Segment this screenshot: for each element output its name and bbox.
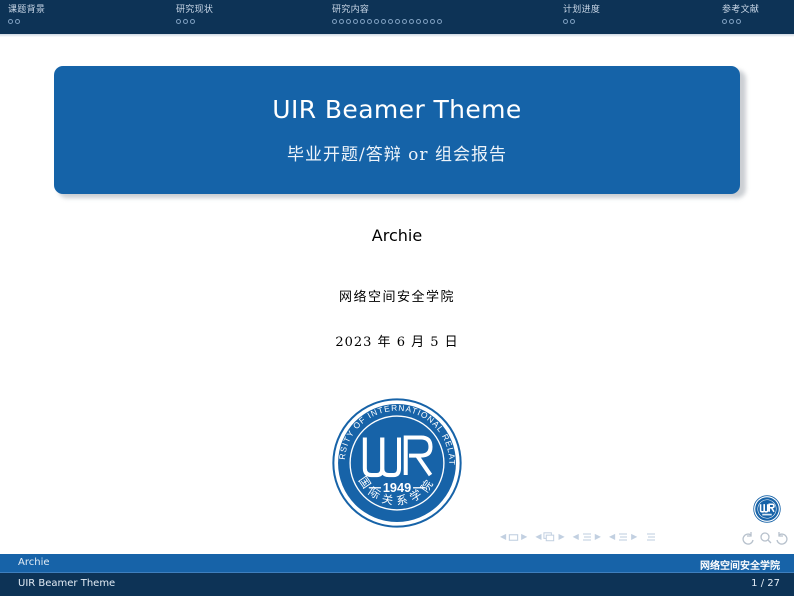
footer-lower-bar xyxy=(0,573,794,596)
slide-dot-icon[interactable] xyxy=(190,19,195,24)
prev-section-icon[interactable]: ◀ xyxy=(609,533,615,541)
frame-navigation-icon[interactable]: ◀ ▶ xyxy=(535,531,564,543)
slide-dot-icon[interactable] xyxy=(353,19,358,24)
header-section-label: 计划进度 xyxy=(563,4,600,16)
slide-dot-icon[interactable] xyxy=(736,19,741,24)
slide-dot-icon[interactable] xyxy=(423,19,428,24)
footer-author: Archie xyxy=(18,557,50,568)
slide-dot-icon[interactable] xyxy=(416,19,421,24)
slide-glyph-icon[interactable] xyxy=(508,532,519,543)
header-section-label: 研究现状 xyxy=(176,4,213,16)
search-icon xyxy=(761,533,769,541)
header-section-3[interactable]: 研究内容 xyxy=(332,4,442,24)
next-slide-icon[interactable]: ▶ xyxy=(521,533,527,541)
frame-glyph-icon[interactable] xyxy=(543,531,556,543)
slide-dot-icon[interactable] xyxy=(374,19,379,24)
slide-dot-icon[interactable] xyxy=(367,19,372,24)
presentation-title: UIR Beamer Theme xyxy=(272,95,521,124)
presentation-glyph-icon[interactable] xyxy=(645,531,657,543)
slide-dot-icon[interactable] xyxy=(15,19,20,24)
presentation-navigation-icon[interactable] xyxy=(645,531,657,543)
footer-institute: 网络空间安全学院 xyxy=(700,557,780,572)
header-section-label: 研究内容 xyxy=(332,4,442,16)
uir-seal-logo: UNIVERSITY OF INTERNATIONAL RELATIONS 国际… xyxy=(330,396,464,530)
header-section-slide-dots[interactable] xyxy=(722,19,759,24)
subsection-glyph-icon[interactable] xyxy=(581,531,593,543)
slide-dot-icon[interactable] xyxy=(570,19,575,24)
slide-dot-icon[interactable] xyxy=(332,19,337,24)
slide-dot-icon[interactable] xyxy=(729,19,734,24)
slide-dot-icon[interactable] xyxy=(8,19,13,24)
slide-dot-icon[interactable] xyxy=(176,19,181,24)
footer-upper-bar xyxy=(0,554,794,572)
header-section-slide-dots[interactable] xyxy=(563,19,600,24)
header-section-slide-dots[interactable] xyxy=(176,19,213,24)
prev-frame-icon[interactable]: ◀ xyxy=(535,533,541,541)
header-section-2[interactable]: 研究现状 xyxy=(176,4,213,24)
subsection-navigation-icon[interactable]: ◀ ▶ xyxy=(573,531,601,543)
slide-dot-icon[interactable] xyxy=(388,19,393,24)
slide-dot-icon[interactable] xyxy=(381,19,386,24)
slide-navigation-icon[interactable]: ◀ ▶ xyxy=(500,532,527,543)
section-navigation-icon[interactable]: ◀ ▶ xyxy=(609,531,637,543)
section-glyph-icon[interactable] xyxy=(617,531,629,543)
presentation-date: 2023 年 6 月 5 日 xyxy=(0,331,794,350)
header-section-label: 参考文献 xyxy=(722,4,759,16)
header-separator-line xyxy=(0,34,794,37)
slide-dot-icon[interactable] xyxy=(437,19,442,24)
pdf-nav-svg[interactable] xyxy=(742,531,788,545)
title-box: UIR Beamer Theme 毕业开题/答辩 or 组会报告 xyxy=(54,66,740,194)
beamer-navigation-symbols[interactable]: ◀ ▶ ◀ ▶ ◀ ▶ ◀ xyxy=(500,528,750,546)
slide-dot-icon[interactable] xyxy=(430,19,435,24)
footer-page-number: 1 / 27 xyxy=(751,578,780,589)
presentation-subtitle: 毕业开题/答辩 or 组会报告 xyxy=(287,140,507,165)
header-section-4[interactable]: 计划进度 xyxy=(563,4,600,24)
uir-mini-logo-svg xyxy=(753,495,781,523)
slide-dot-icon[interactable] xyxy=(346,19,351,24)
prev-subsection-icon[interactable]: ◀ xyxy=(573,533,579,541)
footer-title: UIR Beamer Theme xyxy=(18,578,115,589)
slide-dot-icon[interactable] xyxy=(722,19,727,24)
prev-slide-icon[interactable]: ◀ xyxy=(500,533,506,541)
uir-mini-logo-badge xyxy=(753,495,781,523)
slide-dot-icon[interactable] xyxy=(339,19,344,24)
slide-dot-icon[interactable] xyxy=(402,19,407,24)
author-name: Archie xyxy=(0,226,794,245)
search-handle-icon xyxy=(768,540,771,543)
pdf-navigation-icons[interactable] xyxy=(742,531,788,545)
next-subsection-icon[interactable]: ▶ xyxy=(595,533,601,541)
slide-dot-icon[interactable] xyxy=(409,19,414,24)
next-frame-icon[interactable]: ▶ xyxy=(558,533,564,541)
header-section-slide-dots[interactable] xyxy=(8,19,45,24)
header-section-5[interactable]: 参考文献 xyxy=(722,4,759,24)
header-section-label: 课题背景 xyxy=(8,4,45,16)
uir-seal-svg: UNIVERSITY OF INTERNATIONAL RELATIONS 国际… xyxy=(330,396,464,530)
slide-dot-icon[interactable] xyxy=(360,19,365,24)
svg-text:1949: 1949 xyxy=(383,480,411,495)
next-section-icon[interactable]: ▶ xyxy=(631,533,637,541)
header-section-slide-dots[interactable] xyxy=(332,19,442,24)
institute-name: 网络空间安全学院 xyxy=(0,286,794,305)
slide-dot-icon[interactable] xyxy=(563,19,568,24)
slide-dot-icon[interactable] xyxy=(183,19,188,24)
slide-dot-icon[interactable] xyxy=(395,19,400,24)
header-section-1[interactable]: 课题背景 xyxy=(8,4,45,24)
